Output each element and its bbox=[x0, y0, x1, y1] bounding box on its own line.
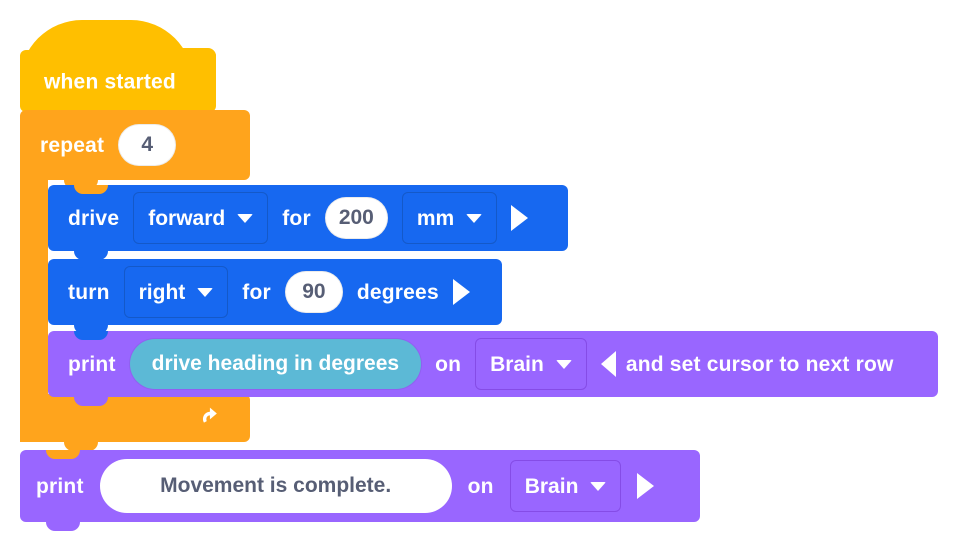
drive-label: drive bbox=[68, 208, 119, 229]
print-heading-suffix-label: and set cursor to next row bbox=[626, 354, 894, 375]
block-drive[interactable]: drive forward for 200 mm bbox=[48, 185, 568, 251]
turn-for-label: for bbox=[242, 282, 271, 303]
print-message-label: print bbox=[36, 476, 84, 497]
drive-distance-input[interactable]: 200 bbox=[325, 197, 388, 239]
drive-direction-value: forward bbox=[148, 208, 225, 229]
drive-top-notch bbox=[74, 185, 108, 194]
chevron-down-icon bbox=[590, 482, 606, 491]
turn-units-label: degrees bbox=[357, 282, 439, 303]
play-right-icon[interactable] bbox=[511, 205, 528, 231]
loop-arrow-icon bbox=[198, 402, 224, 428]
turn-row: turn right for 90 degrees bbox=[48, 259, 522, 325]
print-heading-row: print drive heading in degrees on Brain … bbox=[48, 331, 958, 397]
drive-units-dropdown[interactable]: mm bbox=[402, 192, 497, 244]
print-heading-label: print bbox=[68, 354, 116, 375]
chevron-down-icon bbox=[466, 214, 482, 223]
block-turn[interactable]: turn right for 90 degrees bbox=[48, 259, 502, 325]
turn-top-notch bbox=[74, 259, 108, 268]
repeat-label: repeat bbox=[40, 135, 104, 156]
print-message-bottom-nub bbox=[46, 522, 80, 531]
drive-units-value: mm bbox=[417, 208, 454, 229]
play-right-icon[interactable] bbox=[453, 279, 470, 305]
drive-direction-dropdown[interactable]: forward bbox=[133, 192, 268, 244]
print-message-text-input[interactable]: Movement is complete. bbox=[100, 459, 452, 513]
print-heading-on-label: on bbox=[435, 354, 461, 375]
repeat-times-input[interactable]: 4 bbox=[118, 124, 176, 166]
block-workspace-canvas[interactable]: when started repeat 4 drive forward for … bbox=[0, 0, 963, 550]
turn-label: turn bbox=[68, 282, 110, 303]
chevron-down-icon bbox=[556, 360, 572, 369]
print-message-device-value: Brain bbox=[525, 476, 579, 497]
play-right-icon[interactable] bbox=[637, 473, 654, 499]
print-message-row: print Movement is complete. on Brain bbox=[20, 450, 716, 522]
play-left-icon[interactable] bbox=[601, 351, 616, 377]
repeat-header-row: repeat 4 bbox=[20, 110, 176, 180]
print-message-on-label: on bbox=[468, 476, 494, 497]
print-heading-device-dropdown[interactable]: Brain bbox=[475, 338, 587, 390]
reporter-drive-heading[interactable]: drive heading in degrees bbox=[130, 339, 421, 389]
chevron-down-icon bbox=[237, 214, 253, 223]
drive-for-label: for bbox=[282, 208, 311, 229]
block-print-heading[interactable]: print drive heading in degrees on Brain … bbox=[48, 331, 938, 397]
chevron-down-icon bbox=[197, 288, 213, 297]
block-when-started[interactable]: when started bbox=[20, 20, 216, 112]
print-heading-bottom-nub bbox=[74, 397, 108, 406]
print-heading-top-notch bbox=[74, 331, 108, 340]
when-started-label: when started bbox=[44, 72, 176, 93]
turn-angle-input[interactable]: 90 bbox=[285, 271, 343, 313]
turn-direction-value: right bbox=[139, 282, 186, 303]
block-print-message[interactable]: print Movement is complete. on Brain bbox=[20, 450, 700, 522]
turn-direction-dropdown[interactable]: right bbox=[124, 266, 229, 318]
print-message-top-notch bbox=[46, 450, 80, 459]
print-message-device-dropdown[interactable]: Brain bbox=[510, 460, 622, 512]
drive-row: drive forward for 200 mm bbox=[48, 185, 588, 251]
print-heading-device-value: Brain bbox=[490, 354, 544, 375]
